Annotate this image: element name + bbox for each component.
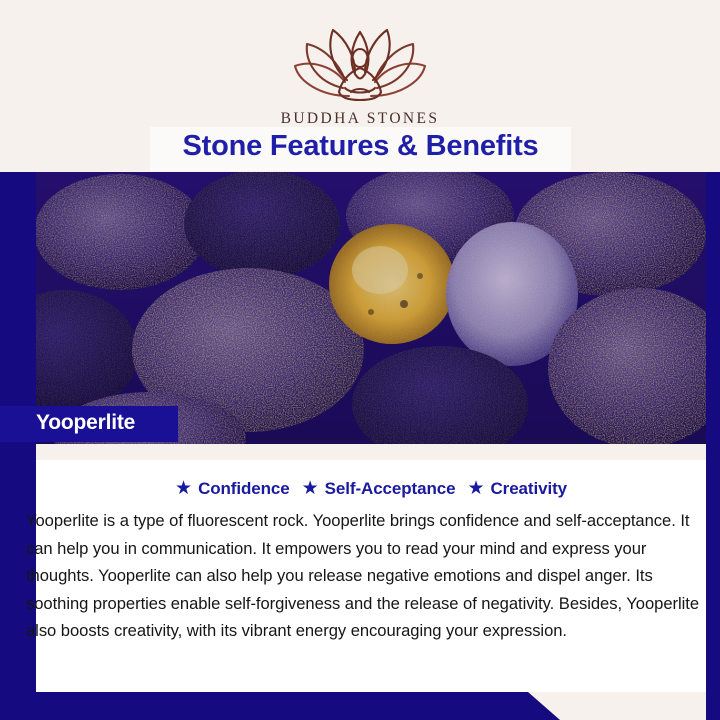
star-icon: ★ bbox=[175, 477, 192, 500]
card-top-strip bbox=[36, 444, 706, 460]
brand-name: BUDDHA STONES bbox=[0, 110, 720, 128]
hero-photo bbox=[0, 172, 720, 444]
keyword-confidence: Confidence bbox=[198, 479, 290, 499]
keyword-self-acceptance: Self-Acceptance bbox=[325, 479, 456, 499]
brand-logo: BUDDHA STONES bbox=[0, 22, 720, 128]
keyword-creativity: Creativity bbox=[491, 479, 567, 499]
star-icon: ★ bbox=[467, 477, 484, 500]
page-title: Stone Features & Benefits bbox=[150, 130, 571, 163]
keyword-list: ★Confidence★Self-Acceptance★Creativity bbox=[36, 477, 706, 500]
stone-description: Yooperlite is a type of fluorescent rock… bbox=[26, 507, 706, 645]
poster-header: BUDDHA STONES Stone Features & Benefits bbox=[0, 0, 720, 172]
lotus-meditation-icon bbox=[285, 22, 435, 108]
yooperlite-photo-illustration bbox=[0, 172, 720, 444]
frame-bottom-band bbox=[0, 692, 560, 720]
stone-info-poster: BUDDHA STONES Stone Features & Benefits … bbox=[0, 0, 720, 720]
stone-name-label: Yooperlite bbox=[36, 411, 178, 435]
star-icon: ★ bbox=[302, 477, 319, 500]
content-card: ★Confidence★Self-Acceptance★Creativity Y… bbox=[36, 444, 706, 692]
